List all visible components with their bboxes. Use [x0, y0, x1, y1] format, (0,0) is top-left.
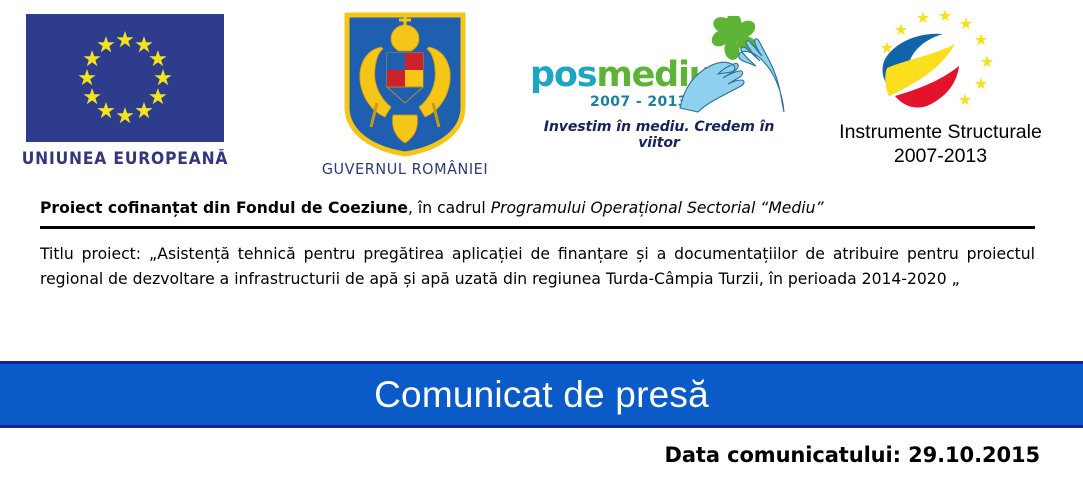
instrumente-structurale-logo-block: Instrumente Structurale 2007-2013 — [808, 8, 1073, 168]
pos-mediu-hands-flower-icon — [676, 16, 788, 118]
logo-header-row: UNIUNEA EUROPEANĂ — [0, 0, 1083, 192]
pos-mediu-years: 2007 - 2013 — [590, 94, 688, 110]
european-union-caption: UNIUNEA EUROPEANĂ — [17, 149, 233, 168]
instrumente-structurale-caption-line2: 2007-2013 — [808, 144, 1073, 168]
press-release-banner-title: Comunicat de presă — [374, 375, 709, 415]
romania-coat-of-arms-icon — [285, 10, 525, 158]
romanian-government-logo-block: GUVERNUL ROMÂNIEI — [285, 10, 525, 178]
romanian-government-caption: GUVERNUL ROMÂNIEI — [290, 160, 520, 178]
funding-statement-italic: Programului Operațional Sectorial “Mediu… — [491, 199, 824, 217]
pos-mediu-logo-block: posmediu 2007 - 2013 — [524, 22, 794, 151]
european-union-flag-icon — [26, 14, 224, 142]
document-body: Proiect cofinanțat din Fondul de Coeziun… — [0, 192, 1083, 292]
instrumente-structurale-caption-line1: Instrumente Structurale — [808, 120, 1073, 144]
right-hand-icon — [739, 39, 784, 112]
project-title-text: Titlu proiect: „Asistență tehnică pentru… — [40, 242, 1035, 292]
left-hand-icon — [680, 62, 744, 112]
romania-shield-icon — [341, 11, 469, 157]
press-release-date: Data comunicatului: 29.10.2015 — [665, 443, 1041, 467]
instrumente-structurale-emblem-icon — [808, 8, 1073, 120]
hands-holding-plant-icon — [676, 16, 788, 114]
horizontal-divider — [40, 226, 1035, 229]
funding-statement-plain: , în cadrul — [408, 199, 491, 217]
tricolor-swoosh-stars-icon — [861, 8, 1021, 120]
eu-stars-circle-icon — [26, 14, 224, 142]
funding-statement: Proiect cofinanțat din Fondul de Coeziun… — [40, 192, 1043, 218]
pos-mediu-tagline: Investim în mediu. Credem în viitor — [528, 119, 790, 151]
instrumente-structurale-caption: Instrumente Structurale 2007-2013 — [808, 120, 1073, 168]
european-union-logo-block: UNIUNEA EUROPEANĂ — [10, 14, 240, 168]
green-flower-icon — [709, 16, 759, 61]
funding-statement-bold: Proiect cofinanțat din Fondul de Coeziun… — [40, 199, 408, 217]
pos-mediu-wordmark-pos: pos — [530, 55, 596, 95]
press-release-banner: Comunicat de presă — [0, 361, 1083, 428]
